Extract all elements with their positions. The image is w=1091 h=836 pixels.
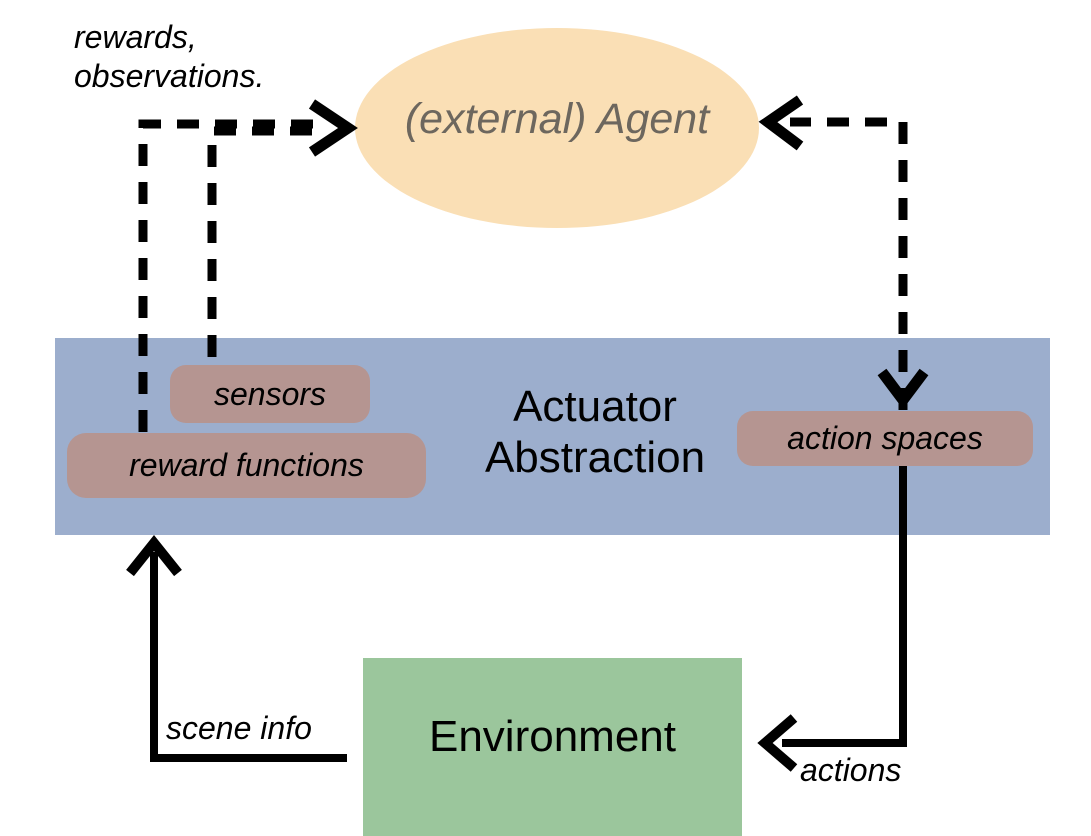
dashed-arrow-left-icon: [768, 100, 924, 410]
rewards-observations-label: rewards, observations.: [74, 18, 264, 96]
environment-label: Environment: [363, 712, 742, 762]
diagram-canvas: sensors reward functions action spaces (…: [0, 0, 1091, 836]
rewards-observations-line2: observations.: [74, 57, 264, 96]
agent-label: (external) Agent: [355, 96, 759, 143]
actuator-abstraction-label: Actuator Abstraction: [455, 382, 735, 483]
scene-info-label: scene info: [166, 710, 312, 747]
solid-arrow-left-icon: [765, 466, 903, 768]
pill-sensors[interactable]: sensors: [170, 365, 370, 423]
actions-label: actions: [800, 752, 901, 789]
rewards-observations-line1: rewards,: [74, 18, 264, 57]
pill-action-spaces[interactable]: action spaces: [737, 411, 1033, 466]
pill-reward-functions[interactable]: reward functions: [67, 433, 426, 498]
actuator-abstraction-label-line2: Abstraction: [455, 433, 735, 484]
actuator-abstraction-label-line1: Actuator: [455, 382, 735, 433]
